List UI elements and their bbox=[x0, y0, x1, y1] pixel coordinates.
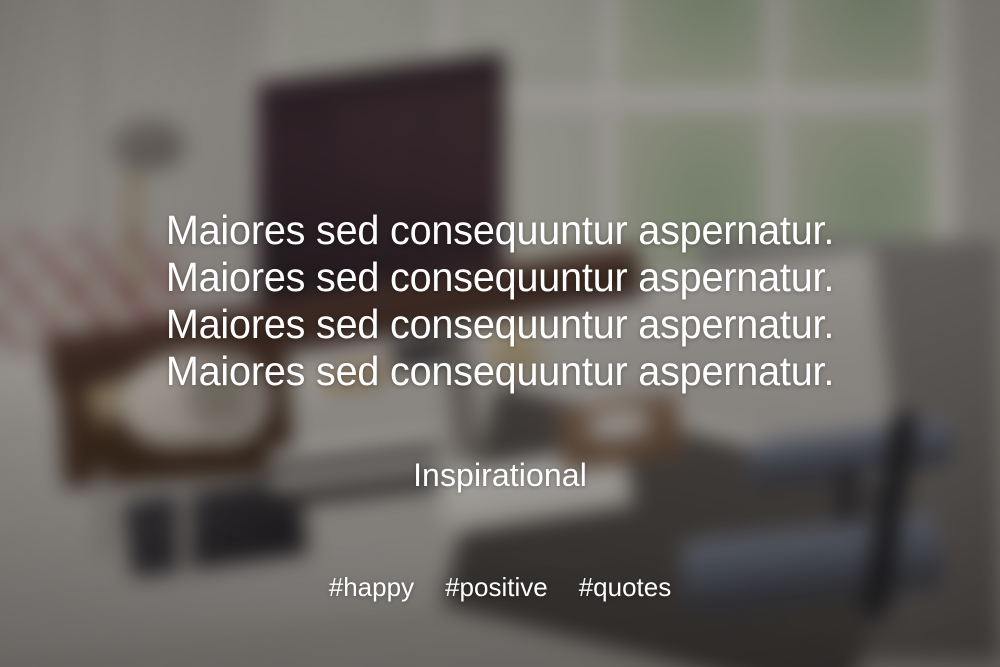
quote-line-2: Maiores sed consequuntur aspernatur. bbox=[18, 254, 983, 301]
quote-line-1: Maiores sed consequuntur aspernatur. bbox=[18, 207, 983, 254]
hashtag-quotes[interactable]: #quotes bbox=[579, 572, 672, 603]
quote-line-3: Maiores sed consequuntur aspernatur. bbox=[18, 301, 983, 348]
quote-text: Maiores sed consequuntur aspernatur. Mai… bbox=[18, 207, 983, 395]
quote-line-4: Maiores sed consequuntur aspernatur. bbox=[18, 348, 983, 395]
category-label: Inspirational bbox=[413, 457, 587, 494]
hashtag-positive[interactable]: #positive bbox=[445, 572, 548, 603]
card-content: Maiores sed consequuntur aspernatur. Mai… bbox=[0, 0, 1000, 667]
hashtag-list: #happy #positive #quotes bbox=[329, 572, 671, 603]
quote-card: Maiores sed consequuntur aspernatur. Mai… bbox=[0, 0, 1000, 667]
hashtag-happy[interactable]: #happy bbox=[329, 572, 414, 603]
